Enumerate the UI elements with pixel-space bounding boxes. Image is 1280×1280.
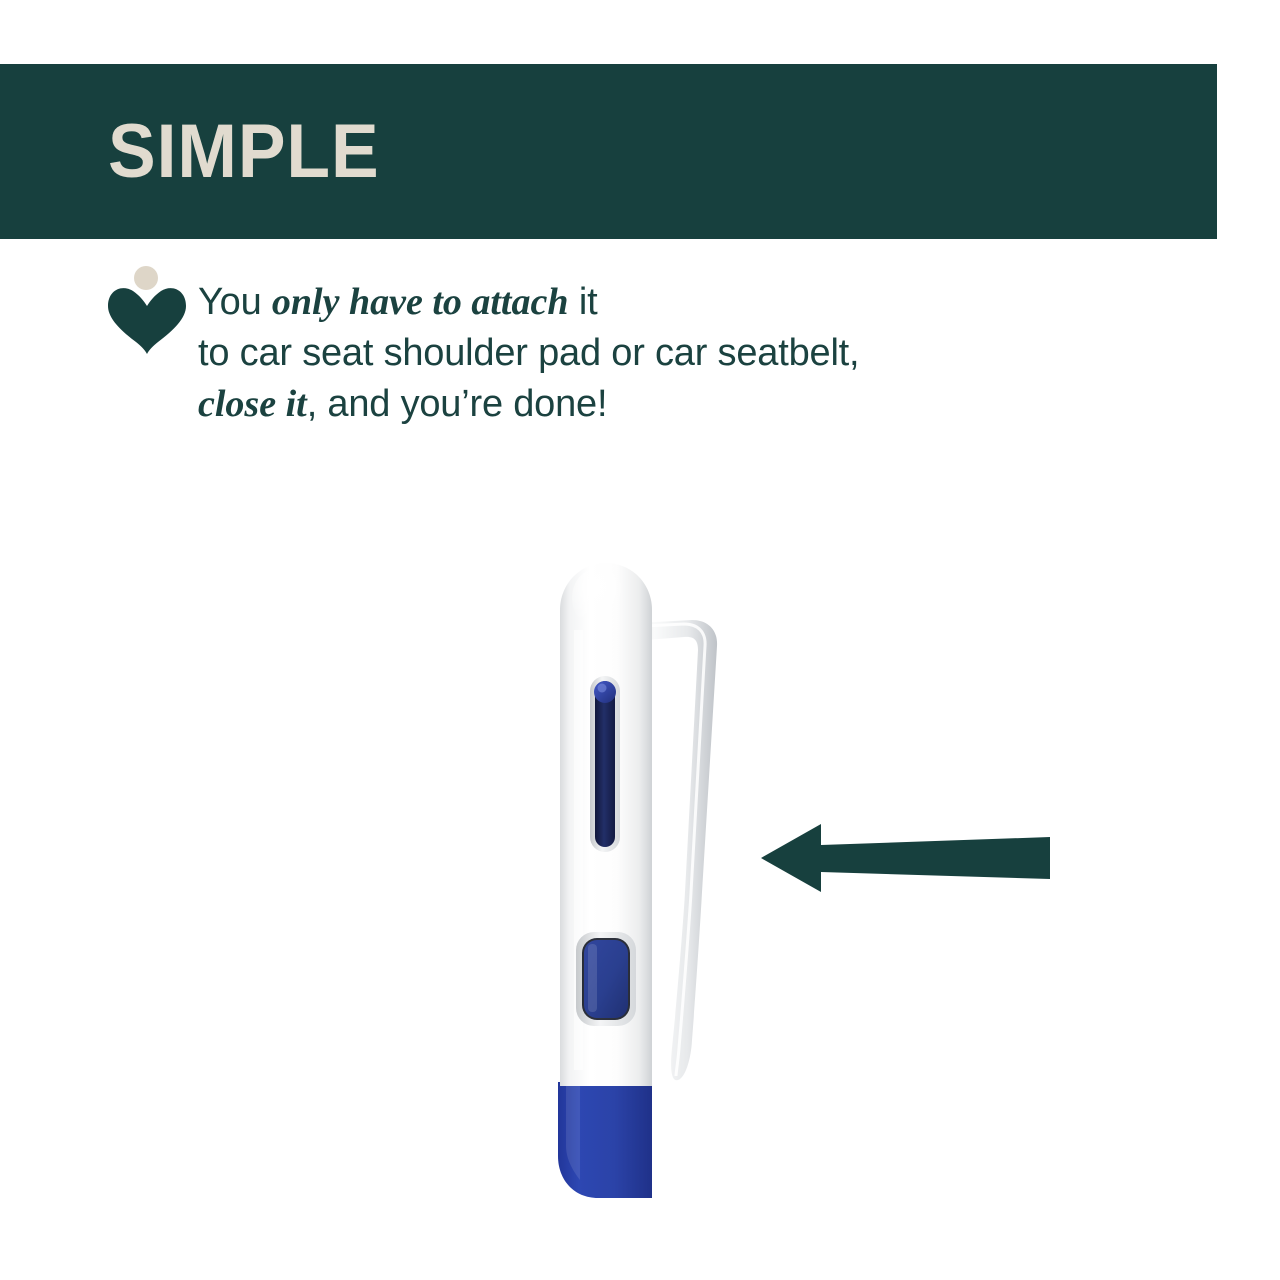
bullet-line-1-post: it bbox=[569, 281, 598, 323]
slider-knob-highlight bbox=[598, 684, 607, 693]
arrow-shape bbox=[761, 824, 1050, 892]
bullet-line-3-emphasis: close it bbox=[198, 383, 307, 425]
bullet-text-block: You only have to attach it to car seat s… bbox=[198, 277, 1098, 430]
button-highlight bbox=[588, 944, 597, 1012]
release-button bbox=[576, 932, 636, 1026]
slider-knob bbox=[594, 681, 616, 703]
heart-icon-head-circle bbox=[134, 266, 158, 290]
bullet-row: You only have to attach it to car seat s… bbox=[0, 255, 1280, 455]
bullet-line-2: to car seat shoulder pad or car seatbelt… bbox=[198, 328, 1098, 379]
slider-slot-group bbox=[590, 676, 620, 852]
body-top-highlight bbox=[572, 568, 624, 628]
blue-bottom-cap bbox=[558, 1082, 652, 1198]
heart-icon-heart-shape bbox=[108, 288, 186, 354]
bullet-line-1-emphasis: only have to attach bbox=[272, 281, 569, 323]
page-title: SIMPLE bbox=[108, 114, 380, 190]
person-heart-icon bbox=[104, 260, 196, 360]
bullet-line-1-pre: You bbox=[198, 281, 272, 323]
header-band: SIMPLE bbox=[0, 64, 1217, 239]
slider-slot bbox=[595, 681, 615, 847]
close-direction-arrow bbox=[755, 812, 1055, 904]
bullet-line-1: You only have to attach it bbox=[198, 277, 1098, 328]
bullet-line-3: close it, and you’re done! bbox=[198, 379, 1098, 430]
bullet-line-3-post: , and you’re done! bbox=[307, 383, 608, 425]
